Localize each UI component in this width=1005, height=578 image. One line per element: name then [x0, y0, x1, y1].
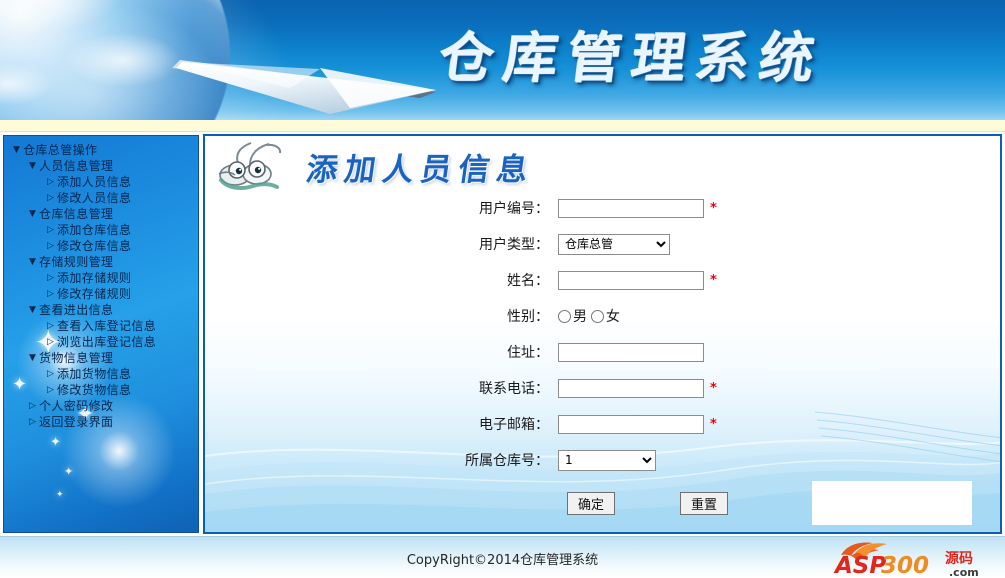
gender-male-option[interactable]: 男 — [558, 306, 587, 326]
warehouse-select[interactable]: 1 — [558, 450, 656, 471]
star-decoration: ✦ — [64, 466, 73, 477]
sidebar-item-label: 查看进出信息 — [39, 302, 113, 318]
sidebar-item-label: 仓库信息管理 — [39, 206, 113, 222]
chevron-down-icon: ▼ — [26, 302, 39, 318]
address-input[interactable] — [558, 343, 704, 362]
gender-label: 性别： — [205, 306, 558, 326]
warehouse-label: 所属仓库号： — [205, 450, 558, 470]
sidebar-item-label: 货物信息管理 — [39, 350, 113, 366]
sidebar-item-16[interactable]: ▷个人密码修改 — [4, 398, 199, 414]
reset-button[interactable]: 重置 — [680, 492, 728, 515]
cream-divider — [0, 120, 1005, 132]
sidebar-item-13[interactable]: ▼货物信息管理 — [4, 350, 199, 366]
chevron-right-icon: ▷ — [44, 222, 57, 238]
sidebar-item-label: 添加存储规则 — [57, 270, 131, 286]
sidebar-item-label: 修改人员信息 — [57, 190, 131, 206]
gender-female-radio[interactable] — [591, 310, 604, 323]
gender-female-option[interactable]: 女 — [591, 306, 620, 326]
sidebar-item-5[interactable]: ▷添加仓库信息 — [4, 222, 199, 238]
svg-text:ASP: ASP — [833, 553, 886, 578]
field-row-user-id: 用户编号： * — [205, 192, 1002, 224]
user-type-label: 用户类型： — [205, 234, 558, 254]
svg-text:.com: .com — [949, 566, 979, 578]
sidebar-item-4[interactable]: ▼仓库信息管理 — [4, 206, 199, 222]
app-title: 仓库管理系统 — [435, 16, 905, 100]
sidebar-item-10[interactable]: ▼查看进出信息 — [4, 302, 199, 318]
chevron-right-icon: ▷ — [44, 382, 57, 398]
field-row-warehouse: 所属仓库号： 1 — [205, 444, 1002, 476]
sidebar-item-label: 仓库总管操作 — [23, 142, 97, 158]
sidebar-item-label: 修改存储规则 — [57, 286, 131, 302]
asp300-logo: ASP 300 源码 .com — [833, 539, 1001, 578]
field-row-address: 住址： — [205, 336, 1002, 368]
sidebar-item-2[interactable]: ▷添加人员信息 — [4, 174, 199, 190]
email-label: 电子邮箱： — [205, 414, 558, 434]
field-row-user-type: 用户类型： 仓库总管 — [205, 228, 1002, 260]
field-row-gender: 性别： 男 女 — [205, 300, 1002, 332]
chevron-down-icon: ▼ — [26, 206, 39, 222]
star-decoration: ✦ — [56, 491, 64, 500]
sidebar-navigation: ✦ ✦ ✦ ✦ ✦ ✦ ▼仓库总管操作▼人员信息管理▷添加人员信息▷修改人员信息… — [3, 135, 199, 533]
gender-male-radio[interactable] — [558, 310, 571, 323]
name-input[interactable] — [558, 271, 704, 290]
page-footer: CopyRight©2014仓库管理系统 ASP 300 源码 .com — [0, 536, 1005, 578]
sidebar-item-label: 添加仓库信息 — [57, 222, 131, 238]
sidebar-item-14[interactable]: ▷添加货物信息 — [4, 366, 199, 382]
required-asterisk: * — [710, 417, 717, 432]
phone-label: 联系电话： — [205, 378, 558, 398]
chevron-down-icon: ▼ — [26, 254, 39, 270]
chevron-right-icon: ▷ — [44, 366, 57, 382]
sidebar-item-17[interactable]: ▷返回登录界面 — [4, 414, 199, 430]
sidebar-item-label: 查看入库登记信息 — [57, 318, 156, 334]
field-row-name: 姓名： * — [205, 264, 1002, 296]
user-id-label: 用户编号： — [205, 198, 558, 218]
sidebar-item-label: 添加货物信息 — [57, 366, 131, 382]
sidebar-item-3[interactable]: ▷修改人员信息 — [4, 190, 199, 206]
chevron-down-icon: ▼ — [26, 350, 39, 366]
chevron-right-icon: ▷ — [44, 318, 57, 334]
sidebar-item-label: 修改仓库信息 — [57, 238, 131, 254]
sidebar-item-9[interactable]: ▷修改存储规则 — [4, 286, 199, 302]
field-row-email: 电子邮箱： * — [205, 408, 1002, 440]
chevron-right-icon: ▷ — [26, 414, 39, 430]
svg-text:300: 300 — [881, 553, 929, 578]
user-type-select[interactable]: 仓库总管 — [558, 234, 670, 255]
address-label: 住址： — [205, 342, 558, 362]
sidebar-item-label: 浏览出库登记信息 — [57, 334, 156, 350]
chevron-down-icon: ▼ — [10, 142, 23, 158]
sidebar-item-8[interactable]: ▷添加存储规则 — [4, 270, 199, 286]
chevron-right-icon: ▷ — [26, 398, 39, 414]
required-asterisk: * — [710, 273, 717, 288]
name-label: 姓名： — [205, 270, 558, 290]
gender-male-label: 男 — [573, 306, 587, 326]
add-staff-form: 用户编号： * 用户类型： 仓库总管 姓名： * — [205, 192, 1002, 515]
chevron-right-icon: ▷ — [44, 286, 57, 302]
cartoon-ant-icon — [217, 140, 295, 192]
chevron-right-icon: ▷ — [44, 334, 57, 350]
content-panel: 添加人员信息 用户编号： * 用户类型： 仓库总管 姓名： — [203, 134, 1002, 534]
sidebar-item-label: 返回登录界面 — [39, 414, 113, 430]
phone-input[interactable] — [558, 379, 704, 398]
chevron-right-icon: ▷ — [44, 174, 57, 190]
chevron-right-icon: ▷ — [44, 270, 57, 286]
star-decoration: ✦ — [50, 436, 61, 449]
sidebar-item-label: 人员信息管理 — [39, 158, 113, 174]
chevron-right-icon: ▷ — [44, 190, 57, 206]
sidebar-item-label: 存储规则管理 — [39, 254, 113, 270]
sidebar-item-0[interactable]: ▼仓库总管操作 — [4, 142, 199, 158]
sidebar-item-label: 个人密码修改 — [39, 398, 113, 414]
submit-button[interactable]: 确定 — [567, 492, 615, 515]
sidebar-item-1[interactable]: ▼人员信息管理 — [4, 158, 199, 174]
user-id-input[interactable] — [558, 199, 704, 218]
chevron-right-icon: ▷ — [44, 238, 57, 254]
paper-plane-icon — [170, 38, 440, 116]
page-heading: 添加人员信息 — [207, 138, 637, 192]
required-asterisk: * — [710, 381, 717, 396]
svg-text:源码: 源码 — [945, 550, 973, 567]
email-input[interactable] — [558, 415, 704, 434]
warehouse-management-page: 仓库管理系统 ✦ ✦ ✦ ✦ ✦ ✦ ▼仓库总管操作▼人员信息管理▷添加人员信息… — [0, 0, 1005, 578]
sidebar-item-15[interactable]: ▷修改货物信息 — [4, 382, 199, 398]
sidebar-tree: ▼仓库总管操作▼人员信息管理▷添加人员信息▷修改人员信息▼仓库信息管理▷添加仓库… — [4, 142, 199, 430]
required-asterisk: * — [710, 201, 717, 216]
page-title: 添加人员信息 — [304, 144, 538, 189]
sidebar-item-label: 修改货物信息 — [57, 382, 131, 398]
sidebar-item-label: 添加人员信息 — [57, 174, 131, 190]
sidebar-item-12[interactable]: ▷浏览出库登记信息 — [4, 334, 199, 350]
sidebar-item-11[interactable]: ▷查看入库登记信息 — [4, 318, 199, 334]
header-banner: 仓库管理系统 — [0, 0, 1005, 120]
chevron-down-icon: ▼ — [26, 158, 39, 174]
sidebar-item-6[interactable]: ▷修改仓库信息 — [4, 238, 199, 254]
form-buttons: 确定 重置 — [205, 492, 1002, 515]
sidebar-item-7[interactable]: ▼存储规则管理 — [4, 254, 199, 270]
field-row-phone: 联系电话： * — [205, 372, 1002, 404]
gender-female-label: 女 — [606, 306, 620, 326]
